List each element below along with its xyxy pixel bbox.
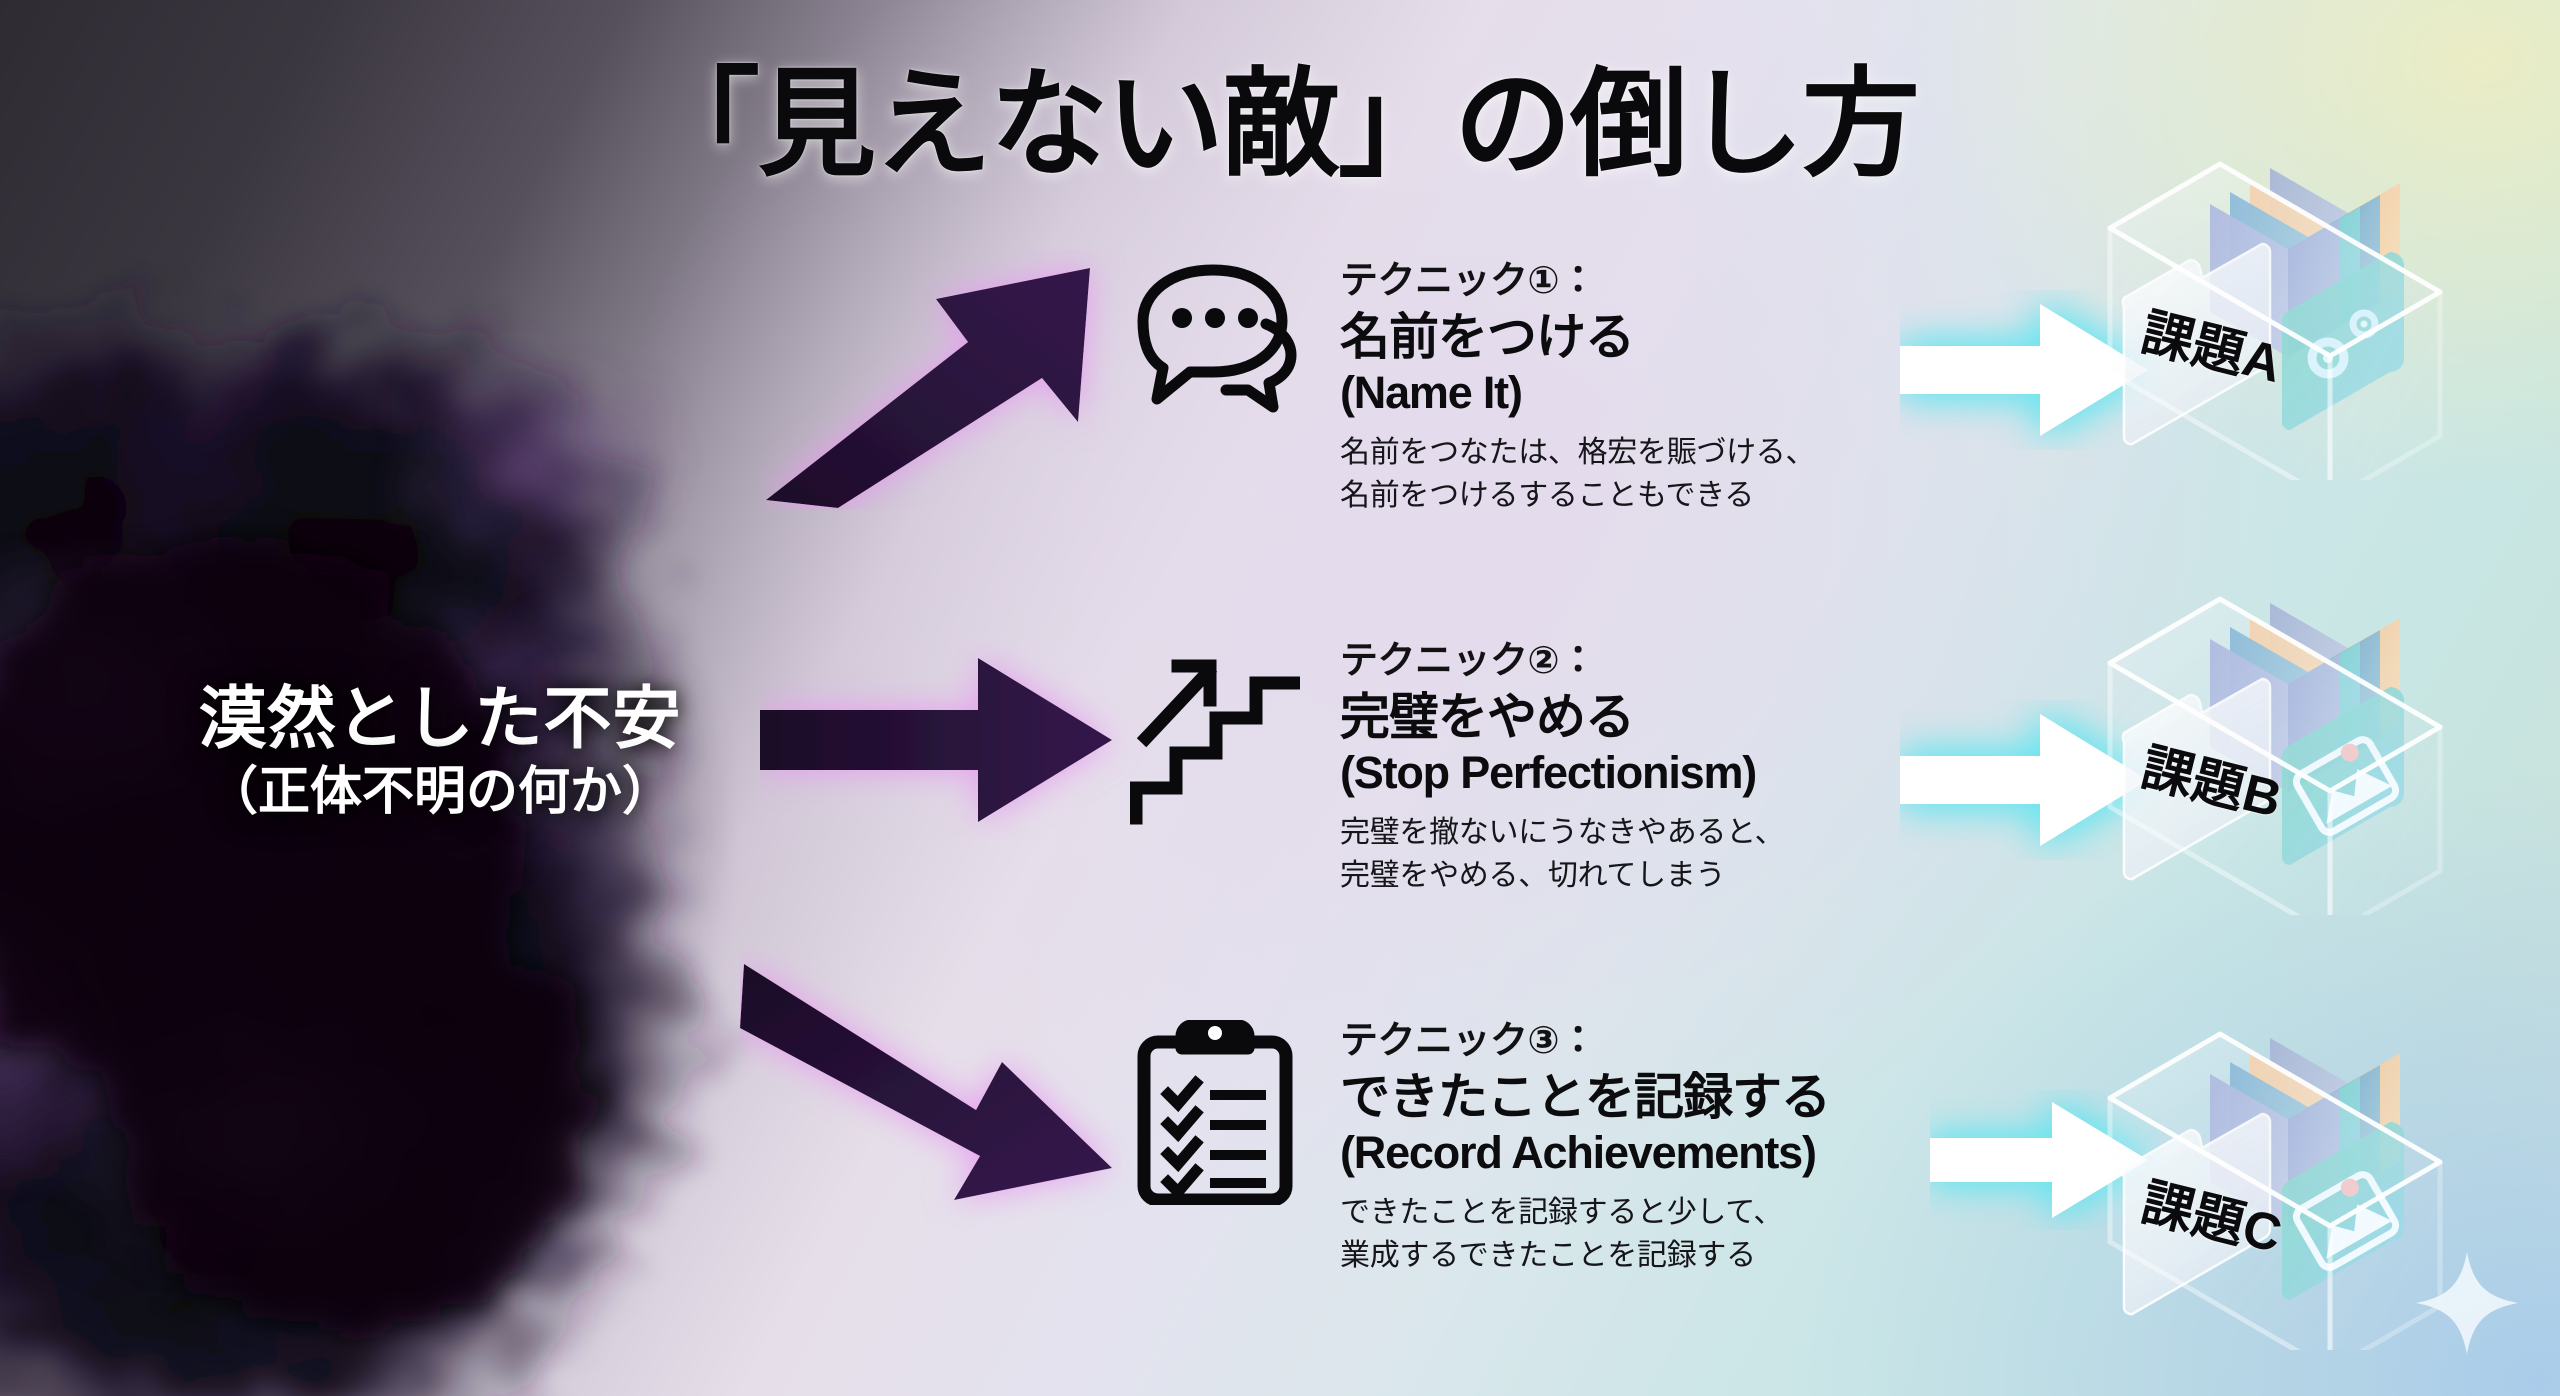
anxiety-core-line1: 漠然とした不安 (120, 680, 760, 759)
dark-arrow-to-technique-3 (740, 950, 1160, 1230)
four-point-sparkle-icon (2412, 1248, 2522, 1358)
technique-3-title-en: (Record Achievements) (1340, 1127, 2040, 1179)
outcome-cube-c: 課題C (2090, 980, 2460, 1350)
anxiety-core-line2: （正体不明の何か） (120, 759, 760, 827)
speech-bubble-icon (1130, 260, 1300, 445)
technique-2-desc-line2: 完璧をやめる、切れてしまう (1340, 855, 2040, 898)
technique-2-title-en: (Stop Perfectionism) (1340, 747, 2040, 799)
outcome-cube-c-graphic (2090, 980, 2460, 1350)
clipboard-checklist-icon (1130, 1020, 1300, 1205)
technique-1-desc-line2: 名前をつけるすることもできる (1340, 475, 2040, 518)
technique-2-text: テクニック②： 完璧をやめる (Stop Perfectionism) 完璧を撤… (1340, 640, 2040, 898)
technique-1-title-en: (Name It) (1340, 367, 2040, 419)
technique-3-desc-line1: できたことを記録すると少して、 (1340, 1192, 2040, 1235)
technique-3-kicker: テクニック③： (1340, 1020, 2040, 1064)
technique-1-kicker: テクニック①： (1340, 260, 2040, 304)
technique-3-title-jp: できたことを記録する (1340, 1068, 2040, 1127)
outcome-cube-a: 課題A (2090, 110, 2460, 480)
technique-1-desc-line1: 名前をつなたは、格宏を賑づける、 (1340, 432, 2040, 475)
technique-2-title-jp: 完璧をやめる (1340, 688, 2040, 747)
dark-arrow-to-technique-2 (760, 640, 1160, 840)
technique-2-kicker: テクニック②： (1340, 640, 2040, 684)
outcome-cube-b-graphic (2090, 545, 2460, 915)
technique-1-title-jp: 名前をつける (1340, 308, 2040, 367)
stairs-up-arrow-icon (1130, 640, 1300, 825)
technique-3-desc-line2: 業成するできたことを記録する (1340, 1235, 2040, 1278)
outcome-cube-a-graphic (2090, 110, 2460, 480)
infographic-canvas: 「見えない敵」の倒し方 漠然とした不安 （正体不明の何か） (0, 0, 2560, 1396)
technique-3-text: テクニック③： できたことを記録する (Record Achievements)… (1340, 1020, 2040, 1278)
anxiety-core-label: 漠然とした不安 （正体不明の何か） (120, 680, 760, 826)
outcome-cube-b: 課題B (2090, 545, 2460, 915)
dark-arrow-to-technique-1 (760, 250, 1160, 510)
technique-2-desc-line1: 完璧を撤ないにうなきやあると、 (1340, 812, 2040, 855)
technique-1-text: テクニック①： 名前をつける (Name It) 名前をつなたは、格宏を賑づける… (1340, 260, 2040, 518)
